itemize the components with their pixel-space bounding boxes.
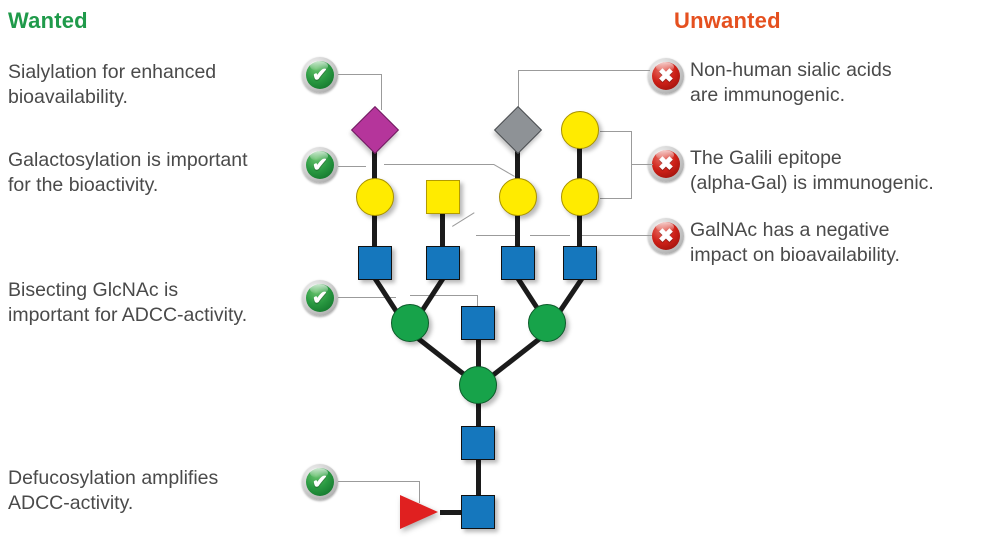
node-galactose-alphagal-top[interactable] xyxy=(561,111,599,149)
node-glcnac-antenna-4[interactable] xyxy=(563,246,597,280)
blue-square-shape xyxy=(461,306,495,340)
blue-square-shape xyxy=(461,426,495,460)
node-glcnac-core-1[interactable] xyxy=(461,426,495,460)
node-galactose-antenna-3[interactable] xyxy=(499,178,537,216)
yellow-circle-shape xyxy=(561,111,599,149)
node-glcnac-antenna-1[interactable] xyxy=(358,246,392,280)
node-galnac-square[interactable] xyxy=(426,180,460,214)
blue-square-shape xyxy=(426,246,460,280)
node-neu5gc-diamond[interactable] xyxy=(494,106,542,154)
yellow-circle-shape xyxy=(561,178,599,216)
magenta-diamond-shape xyxy=(351,106,399,154)
node-glcnac-antenna-2[interactable] xyxy=(426,246,460,280)
blue-square-shape xyxy=(501,246,535,280)
node-fucose-triangle[interactable] xyxy=(400,495,440,529)
blue-square-shape xyxy=(563,246,597,280)
blue-square-shape xyxy=(461,495,495,529)
green-circle-shape xyxy=(528,304,566,342)
node-glcnac-core-2[interactable] xyxy=(461,495,495,529)
yellow-square-shape xyxy=(426,180,460,214)
gray-diamond-shape xyxy=(494,106,542,154)
node-galactose-alphagal-bottom[interactable] xyxy=(561,178,599,216)
green-circle-shape xyxy=(459,366,497,404)
node-mannose-core[interactable] xyxy=(459,366,497,404)
yellow-circle-shape xyxy=(356,178,394,216)
node-mannose-arm-left[interactable] xyxy=(391,304,429,342)
red-triangle-shape xyxy=(400,495,438,529)
node-galactose-antenna-1[interactable] xyxy=(356,178,394,216)
node-mannose-arm-right[interactable] xyxy=(528,304,566,342)
node-glcnac-antenna-3[interactable] xyxy=(501,246,535,280)
glycan-structure-diagram xyxy=(0,0,987,547)
green-circle-shape xyxy=(391,304,429,342)
yellow-circle-shape xyxy=(499,178,537,216)
node-neu5ac-diamond[interactable] xyxy=(351,106,399,154)
node-bisecting-glcnac[interactable] xyxy=(461,306,495,340)
blue-square-shape xyxy=(358,246,392,280)
